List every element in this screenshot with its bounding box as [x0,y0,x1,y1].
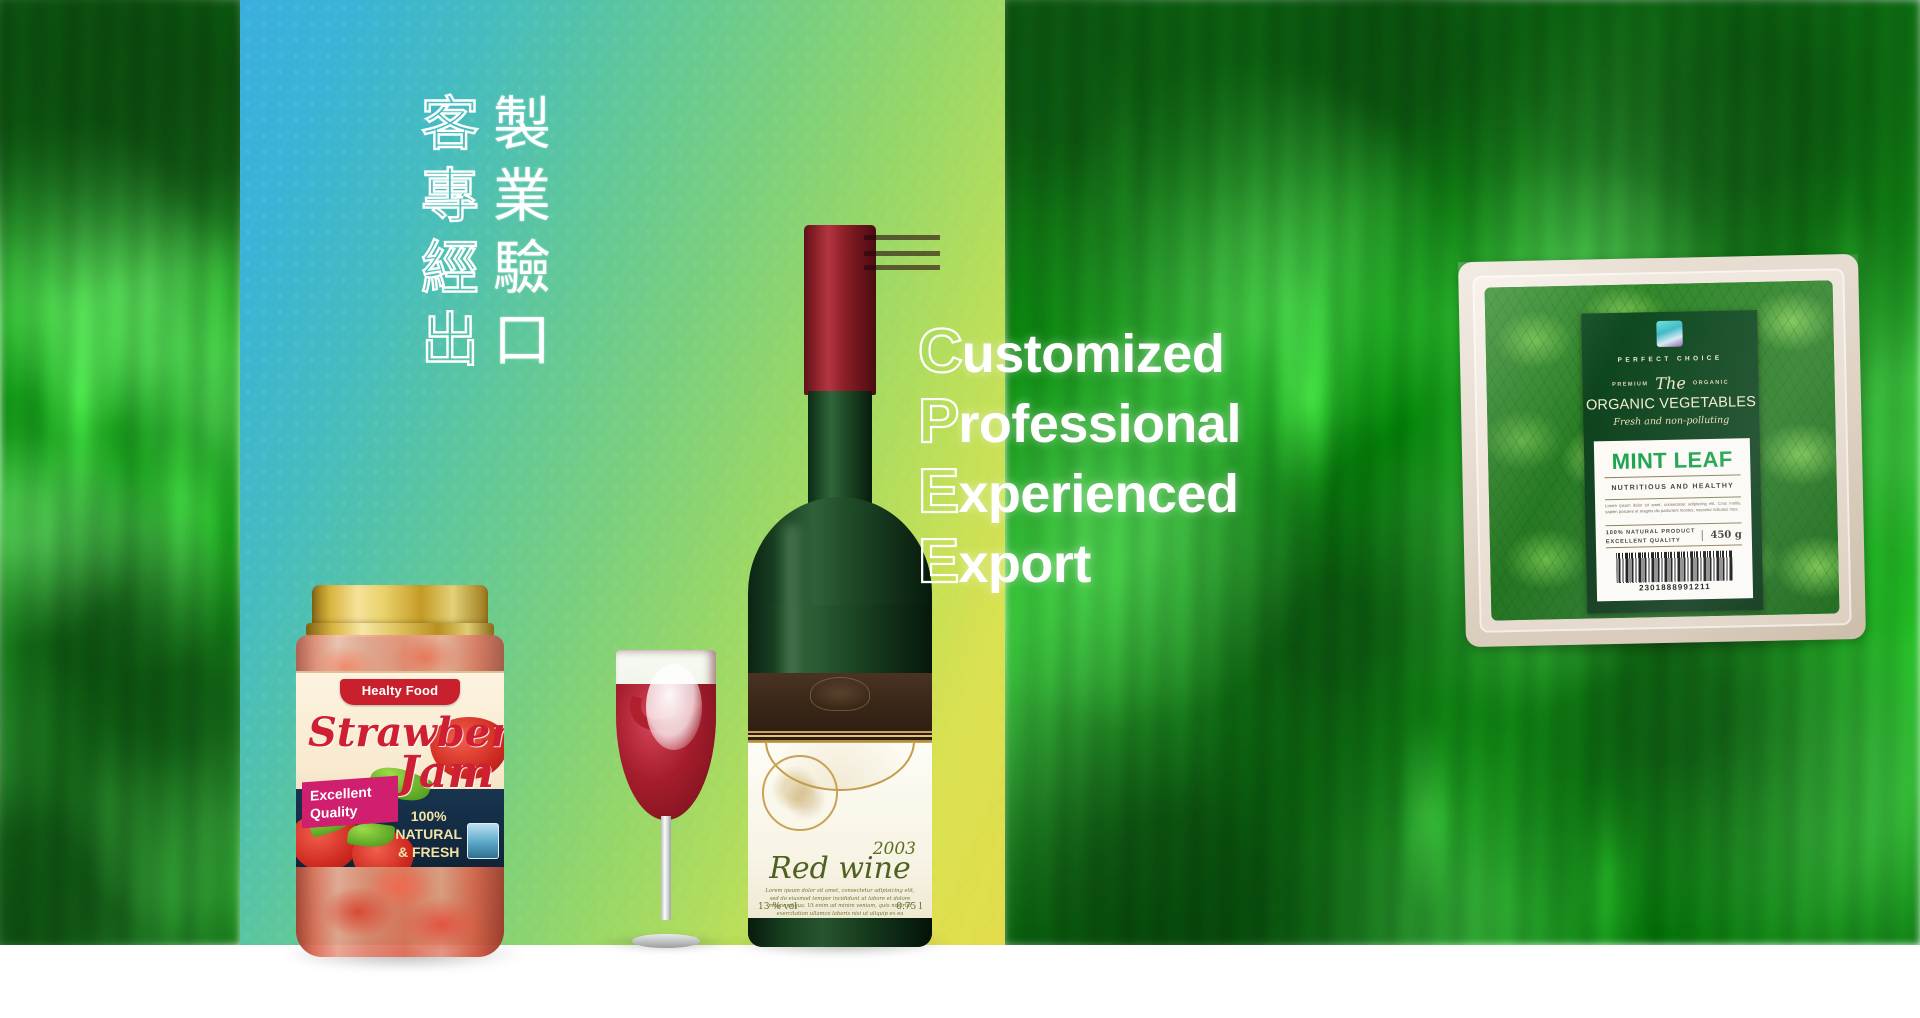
jam-quality-seal-icon [467,823,499,859]
jam-natural-percent: 100% [395,807,462,825]
jam-quality-badge: Excellent Quality [302,776,398,829]
cpee-cap-e2: E [918,528,958,596]
mint-claims: 100% NATURAL PRODUCT EXCELLENT QUALITY [1606,527,1696,546]
chinese-column-right: 製 業 驗 口 [490,92,554,372]
chinese-char-kou: 口 [490,308,554,372]
wine-label: 2003 Red wine Lorem ipsum dolor sit amet… [748,743,932,918]
mint-claim-row: 100% NATURAL PRODUCT EXCELLENT QUALITY 4… [1606,526,1742,546]
cpee-cap-e1: E [918,458,958,526]
strawberry-jam-jar: Healty Food Strawberry Jam Excellent Qua… [296,585,504,965]
glass-foot [632,934,700,948]
bottle-neck-band [748,673,932,735]
bottle-capsule-rib-2 [864,251,940,256]
cpee-cap-c: C [918,318,962,386]
mint-product-label: PERFECT CHOICE PREMIUM The ORGANIC ORGAN… [1581,310,1763,614]
bottle-capsule-rib-3 [864,265,940,270]
tray-contents-window: PERFECT CHOICE PREMIUM The ORGANIC ORGAN… [1485,280,1840,620]
mint-headline: ORGANIC VEGETABLES [1583,394,1759,414]
bottle-crest-icon [810,677,870,711]
chinese-char-zhuan: 專 [418,164,482,228]
chinese-column-left: 客 專 經 出 [418,92,482,372]
red-wine-bottle: 2003 Red wine Lorem ipsum dolor sit amet… [742,225,938,950]
wine-volume: 0.75 l [896,902,922,912]
cpee-line-export: E xport [918,528,1241,596]
mint-brand-crest-icon [1656,321,1683,348]
mint-premium-word: PREMIUM [1612,381,1648,388]
mint-organic-word: ORGANIC [1693,379,1729,386]
cpee-text-export: xport [958,530,1091,598]
chinese-headline: 製 業 驗 口 客 專 經 出 [418,92,554,372]
jam-title-jam: Jam [398,747,494,798]
mint-the-word: The [1655,373,1686,393]
cpee-line-experienced: E xperienced [918,458,1241,526]
cpee-text-professional: rofessional [958,390,1241,458]
bottle-base [748,918,932,947]
mint-product-name: MINT LEAF [1594,446,1751,475]
jam-natural-fresh: & FRESH [395,843,462,861]
cpee-cap-p: P [918,388,958,456]
mint-divider-lower [1606,522,1742,526]
bottle-gold-pinstripes [748,731,932,743]
chinese-char-jing: 經 [418,236,482,300]
forest-texture-left [0,0,240,945]
mint-premium-row: PREMIUM The ORGANIC [1582,372,1758,395]
wine-product-name: Red wine [769,851,910,886]
mint-barcode-icon [1616,551,1733,583]
chinese-char-ke: 客 [418,92,482,156]
chinese-char-ye: 業 [490,164,554,228]
chinese-char-chu: 出 [418,308,482,372]
mint-white-card: MINT LEAF NUTRITIOUS AND HEALTHY Lorem i… [1594,438,1753,601]
mint-net-weight: 450 g [1701,529,1742,541]
wine-alcohol-content: 13 % vol [758,902,797,912]
bottle-capsule-rib-1 [864,235,940,240]
wine-glass [610,650,722,950]
jam-label: Healty Food Strawberry Jam Excellent Qua… [296,671,504,867]
mint-divider-mid [1605,496,1741,500]
mint-divider-top [1605,474,1741,478]
mint-tagline: Fresh and non-polluting [1583,414,1759,429]
mint-barcode-number: 2301888991211 [1597,581,1753,593]
mint-body-copy: Lorem ipsum dolor sit amet, consectetur … [1605,500,1741,515]
mint-arc-text: PERFECT CHOICE [1582,354,1758,365]
forest-background-left [0,0,240,945]
jam-brand-banner: Healty Food [340,679,460,705]
glass-stem [661,816,671,920]
jar-lid [312,585,488,627]
glass-highlight [646,664,702,750]
cpee-text-customized: ustomized [962,320,1225,388]
bottle-foil-capsule [804,225,876,395]
cpee-line-customized: C ustomized [918,318,1241,386]
banner-stage: 製 業 驗 口 客 專 經 出 C ustomized P rofessiona… [0,0,1920,1018]
jam-natural-claim: 100% NATURAL & FRESH [395,807,462,861]
cpee-acrostic: C ustomized P rofessional E xperienced E… [918,318,1241,598]
mint-leaf-tray: PERFECT CHOICE PREMIUM The ORGANIC ORGAN… [1458,254,1866,647]
bottle-shoulder [748,497,932,617]
wine-grape-emblem-icon [762,755,838,831]
cpee-line-professional: P rofessional [918,388,1241,456]
glass-bowl [616,650,716,820]
chinese-char-zhi: 製 [490,92,554,156]
mint-subtitle: NUTRITIOUS AND HEALTHY [1595,482,1751,492]
chinese-char-yan: 驗 [490,236,554,300]
jam-natural-word: NATURAL [395,825,462,843]
cpee-text-experienced: xperienced [958,460,1238,528]
